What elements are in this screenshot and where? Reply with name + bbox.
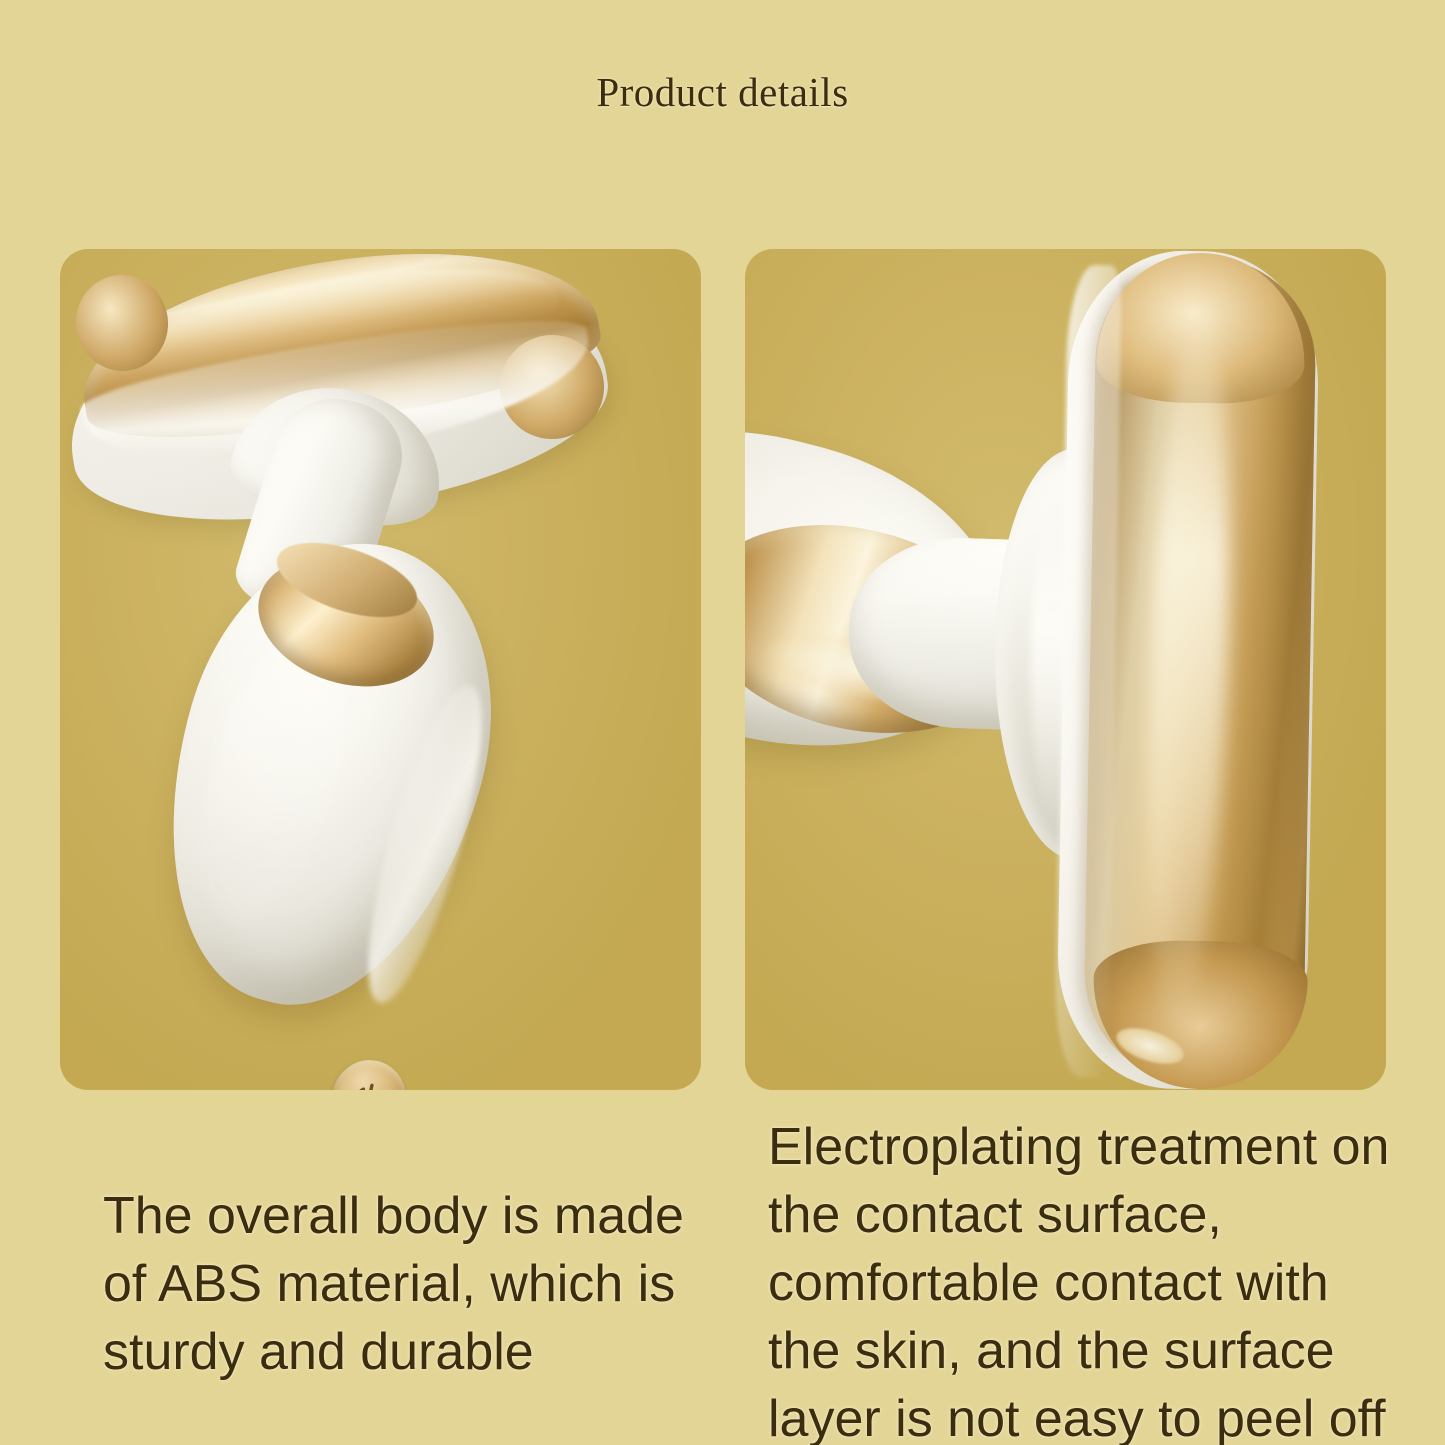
power-icon: [345, 1075, 392, 1090]
product-render-right: [745, 249, 1386, 1090]
device-closeup-view: [745, 249, 1386, 1090]
page-title: Product details: [0, 68, 1445, 116]
product-image-panel-right: [745, 249, 1386, 1090]
power-button[interactable]: [325, 1053, 414, 1090]
device-full-view: [60, 249, 701, 1090]
product-image-panel-left: [60, 249, 701, 1090]
product-details-page: Product details: [0, 0, 1445, 1445]
product-render-left: [60, 249, 701, 1090]
caption-left: The overall body is made of ABS material…: [103, 1182, 723, 1386]
caption-right: Electroplating treatment on the contact …: [768, 1113, 1408, 1445]
